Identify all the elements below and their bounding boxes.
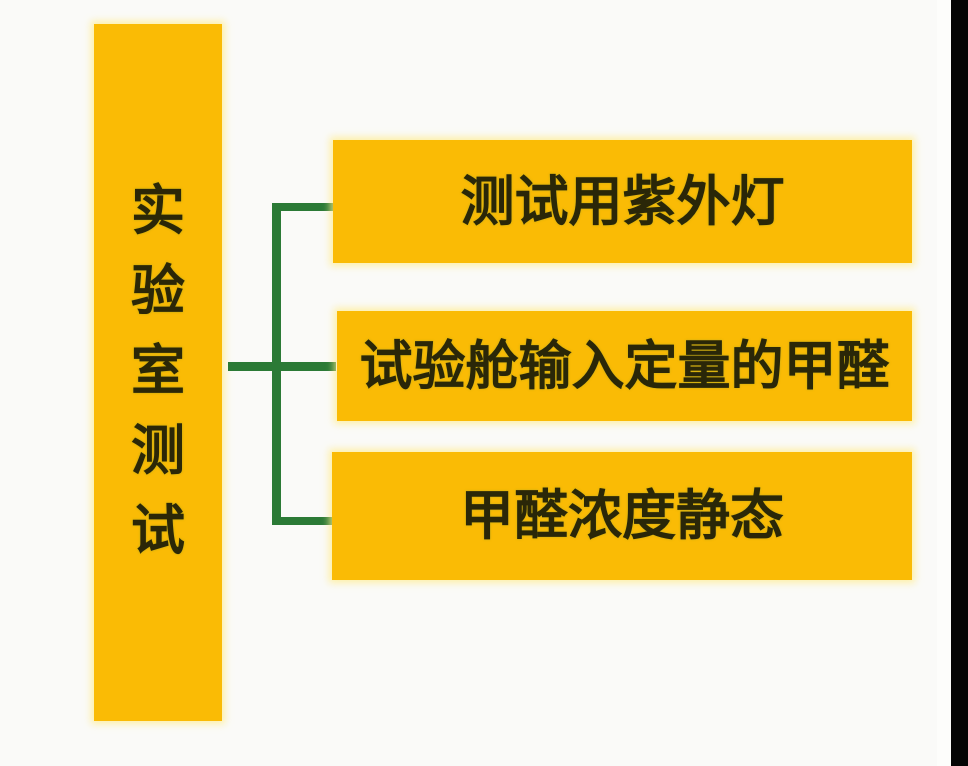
title-bar-laboratory-test[interactable]: 实 验 室 测 试 <box>94 24 222 721</box>
connector-branch-top <box>272 203 334 211</box>
title-char-0: 实 <box>131 184 185 238</box>
connector-stub-to-title <box>228 362 276 371</box>
item-box-formaldehyde-static[interactable]: 甲醛浓度静态 <box>332 452 912 580</box>
title-char-3: 测 <box>131 424 185 478</box>
connector-branch-bottom <box>272 517 334 525</box>
right-edge-black-strip <box>951 0 968 766</box>
item-box-uv-lamp[interactable]: 测试用紫外灯 <box>333 140 912 263</box>
item-label-2: 甲醛浓度静态 <box>460 489 784 543</box>
connector-branch-middle <box>272 362 336 371</box>
item-label-0: 测试用紫外灯 <box>461 175 785 229</box>
title-char-4: 试 <box>131 504 185 558</box>
title-char-1: 验 <box>131 264 185 318</box>
item-box-formaldehyde-input[interactable]: 试验舱输入定量的甲醛 <box>337 311 912 421</box>
diagram-canvas: 实 验 室 测 试 测试用紫外灯 试验舱输入定量的甲醛 甲醛浓度静态 <box>0 0 968 766</box>
title-char-2: 室 <box>131 344 185 398</box>
item-label-1: 试验舱输入定量的甲醛 <box>360 340 890 393</box>
title-bar-vertical-text: 实 验 室 测 试 <box>131 184 185 562</box>
right-edge-gutter <box>937 0 951 766</box>
